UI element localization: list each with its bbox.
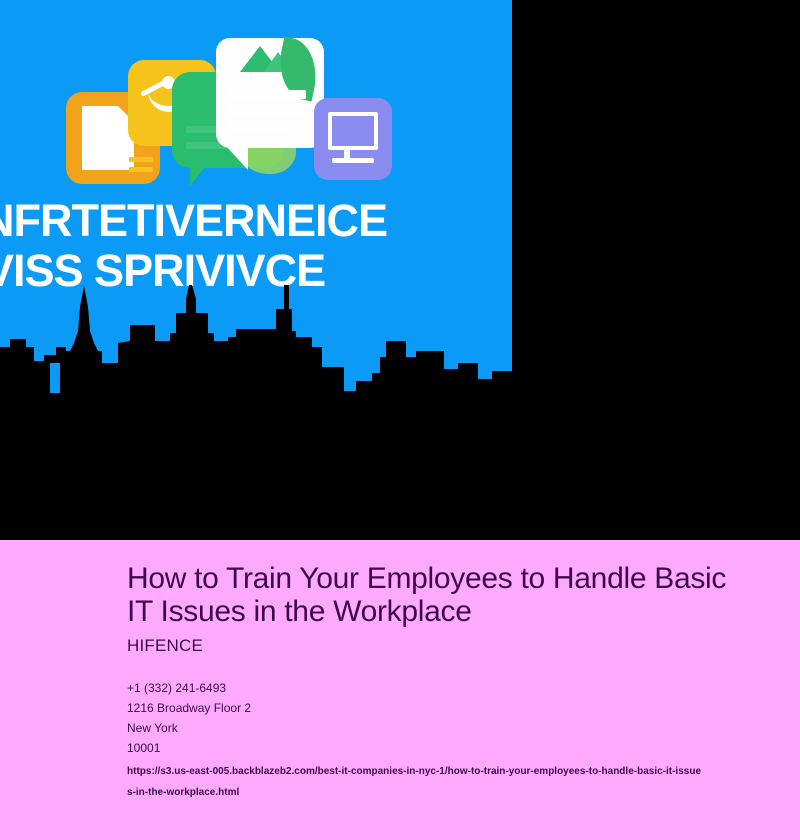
hero-banner: NFRTETIVERNEICE VISS SPRIVIVCE <box>0 0 800 540</box>
document-line-icon <box>129 167 153 172</box>
contact-street: 1216 Broadway Floor 2 <box>127 698 740 718</box>
hero-artwork: NFRTETIVERNEICE VISS SPRIVIVCE <box>0 0 512 405</box>
list-bar-icon <box>228 122 288 131</box>
monitor-stand-icon <box>344 150 350 158</box>
brand-name: HIFENCE <box>127 636 740 656</box>
monitor-screen-icon <box>328 112 378 150</box>
article-card-page: NFRTETIVERNEICE VISS SPRIVIVCE <box>0 0 800 840</box>
monitor-card-icon <box>314 98 392 180</box>
contact-block: +1 (332) 241-6493 1216 Broadway Floor 2 … <box>127 678 740 803</box>
monitor-base-icon <box>332 158 374 163</box>
article-content: How to Train Your Employees to Handle Ba… <box>0 540 800 840</box>
page-title: How to Train Your Employees to Handle Ba… <box>127 562 727 628</box>
chart-leaf-card-icon <box>216 38 324 148</box>
hero-headline: NFRTETIVERNEICE VISS SPRIVIVCE <box>0 196 512 296</box>
contact-phone: +1 (332) 241-6493 <box>127 678 740 698</box>
document-line-icon <box>129 157 153 162</box>
list-bar-icon <box>228 106 306 115</box>
list-bar-icon <box>228 90 306 99</box>
document-sheet-icon <box>82 106 134 170</box>
contact-zip: 10001 <box>127 738 740 758</box>
icon-cluster <box>0 0 512 200</box>
contact-city: New York <box>127 718 740 738</box>
city-skyline-silhouette <box>0 285 512 405</box>
article-url[interactable]: https://s3.us-east-005.backblazeb2.com/b… <box>127 761 702 803</box>
hero-headline-line-1: NFRTETIVERNEICE <box>0 196 512 246</box>
